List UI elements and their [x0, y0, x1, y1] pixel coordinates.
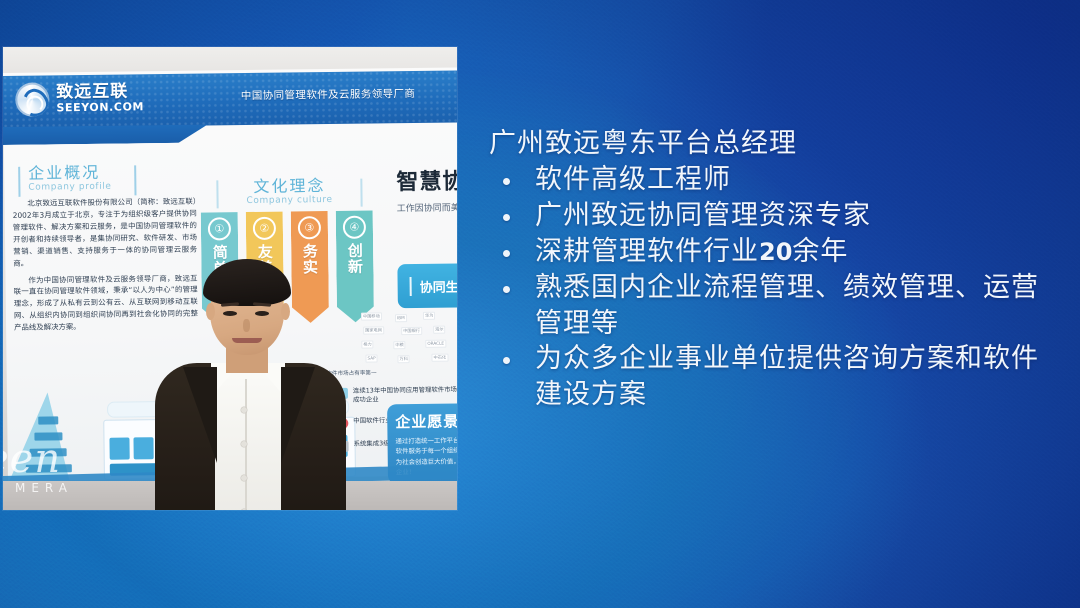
eye-left — [223, 311, 237, 316]
ear-right — [281, 303, 290, 320]
customer-logo: 中粮 — [393, 341, 405, 349]
eye-right — [255, 311, 269, 316]
jacket-lapel-right — [281, 367, 315, 463]
logo-chinese-name: 致远互联 — [56, 83, 144, 101]
bullet-prefix: 深耕管理软件行业 — [535, 236, 759, 266]
speaker-title: 广州致远粤东平台总经理 — [489, 126, 1049, 162]
badge-item: 连续13年中国协同应用管理软件市场成功企业 — [337, 385, 457, 405]
nose — [243, 319, 250, 332]
list-item: 广州致远协同管理资深专家 — [489, 198, 1049, 234]
list-item: 为众多企业事业单位提供咨询方案和软件建设方案 — [489, 341, 1049, 413]
smart-collaboration-section: 智慧协同 工作因协同而美好 — [396, 162, 457, 214]
pillar-label: 创新 — [347, 242, 364, 274]
seeyon-logo: 致远互联 SEEYON.COM — [15, 81, 144, 117]
customer-logo: 中石化 — [431, 354, 448, 362]
customer-logo: 中国银行 — [401, 327, 422, 336]
ecosystem-pill-label: 协同生态 — [410, 276, 457, 296]
bullet-suffix: 余年 — [792, 236, 848, 266]
photo-watermark: een MERA — [3, 439, 125, 495]
speaker-figure — [153, 259, 348, 510]
ecosystem-pill: 协同生态 — [397, 263, 457, 308]
speaker-bio-panel: 广州致远粤东平台总经理 软件高级工程师 广州致远协同管理资深专家 深耕管理软件行… — [489, 126, 1049, 413]
speaker-credentials-list: 软件高级工程师 广州致远协同管理资深专家 深耕管理软件行业20余年 熟悉国内企业… — [489, 162, 1049, 413]
profile-title-cn: 企业概况 — [28, 163, 196, 183]
banner-tagline: 中国协同管理软件及云服务领导厂商 — [241, 86, 416, 103]
badge-text: 连续13年中国协同应用管理软件市场成功企业 — [353, 385, 457, 405]
seeyon-spiral-icon — [15, 82, 49, 116]
customer-logo: 华为 — [423, 312, 435, 320]
customer-logo: IBM — [395, 314, 407, 322]
ear-left — [206, 303, 215, 320]
watermark-script: een — [3, 439, 125, 479]
pillar-number: ④ — [343, 215, 366, 238]
shirt-button — [241, 407, 247, 413]
culture-heading: 文化理念 Company culture — [200, 176, 378, 206]
pillar-number: ③ — [298, 216, 321, 239]
customer-logo: 中国移动 — [361, 312, 382, 321]
shirt-button — [241, 475, 247, 481]
smart-subheading: 工作因协同而美好 — [397, 199, 457, 214]
hair — [203, 259, 291, 306]
customer-logo: 格力 — [361, 340, 373, 348]
presentation-slide: 致远互联 SEEYON.COM 中国协同管理软件及云服务领导厂商 企业概况 Co… — [0, 0, 1080, 608]
shirt-button — [241, 441, 247, 447]
shirt-button — [241, 509, 247, 510]
bullet-number: 20 — [759, 238, 792, 266]
culture-title-cn: 文化理念 — [214, 177, 364, 196]
smart-heading: 智慧协同 — [396, 162, 457, 196]
watermark-subtitle: MERA — [3, 481, 125, 495]
list-item: 深耕管理软件行业20余年 — [489, 234, 1049, 270]
board-header-skirt — [3, 125, 208, 146]
architecture-chip — [133, 437, 153, 459]
profile-title-en: Company profile — [28, 180, 196, 192]
pyramid-layer — [38, 416, 58, 424]
speaker-photo: 致远互联 SEEYON.COM 中国协同管理软件及云服务领导厂商 企业概况 Co… — [3, 47, 457, 510]
pillar-number: ① — [208, 217, 231, 240]
logo-english-name: SEEYON.COM — [56, 100, 144, 115]
list-item: 熟悉国内企业流程管理、绩效管理、运营管理等 — [489, 270, 1049, 342]
mouth — [232, 338, 262, 343]
culture-title-en: Company culture — [215, 194, 365, 206]
list-item: 软件高级工程师 — [489, 162, 1049, 198]
customer-logo: 万科 — [397, 355, 409, 363]
jacket-lapel-left — [183, 367, 217, 463]
customer-logo: SAP — [365, 354, 377, 362]
customer-logo: 海尔 — [433, 326, 445, 334]
customer-logo: 国家电网 — [363, 326, 384, 335]
vision-heading: 企业愿景 — [395, 410, 457, 432]
pillar-number: ② — [253, 216, 276, 239]
customer-logo: ORACLE — [425, 340, 446, 349]
profile-heading: 企业概况 Company profile — [12, 163, 196, 193]
